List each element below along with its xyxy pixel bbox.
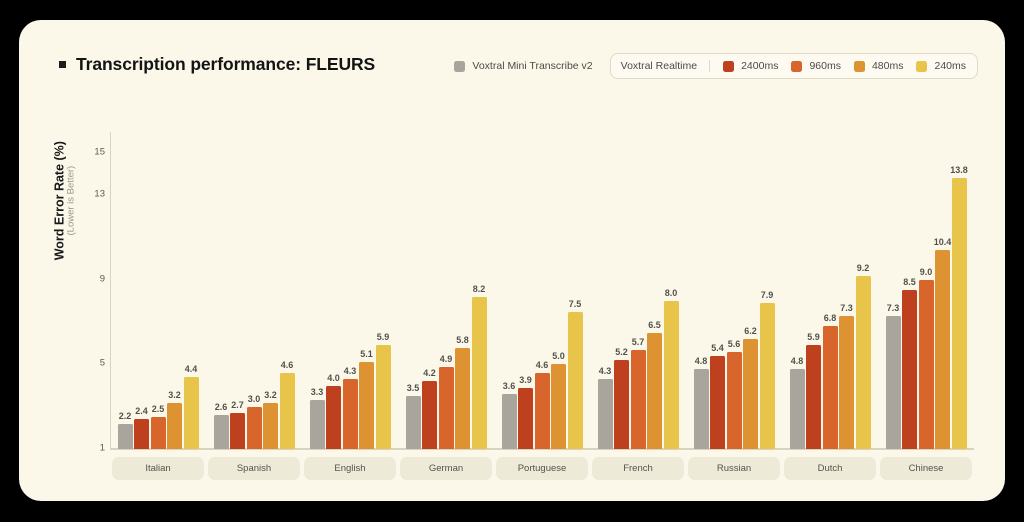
bar-slot: 6.8 <box>823 112 838 449</box>
bar-value-label: 9.2 <box>857 263 870 273</box>
bar-german-240ms[interactable] <box>472 297 487 449</box>
bar-group-italian: 2.22.42.53.24.4 <box>110 112 206 449</box>
bar-english-2400ms[interactable] <box>326 386 341 449</box>
bar-slot: 5.4 <box>710 112 725 449</box>
bar-slot: 2.5 <box>151 112 166 449</box>
bar-slot: 4.2 <box>422 112 437 449</box>
bar-dutch-2400ms[interactable] <box>806 345 821 449</box>
bar-value-label: 2.2 <box>119 411 132 421</box>
bar-slot: 5.1 <box>359 112 374 449</box>
x-axis-label-portuguese[interactable]: Portuguese <box>496 457 588 480</box>
bar-slot: 3.2 <box>263 112 278 449</box>
bar-slot: 5.2 <box>614 112 629 449</box>
bar-value-label: 7.5 <box>569 299 582 309</box>
bar-russian-480ms[interactable] <box>743 339 758 449</box>
bar-portuguese-voxtral-mini-transcribe-v2[interactable] <box>502 394 517 449</box>
bar-slot: 4.3 <box>598 112 613 449</box>
bar-value-label: 4.3 <box>344 366 357 376</box>
bar-french-240ms[interactable] <box>664 301 679 449</box>
bar-chinese-960ms[interactable] <box>919 280 934 449</box>
x-label-cell: Russian <box>686 457 782 480</box>
bar-slot: 8.2 <box>472 112 487 449</box>
bar-russian-voxtral-mini-transcribe-v2[interactable] <box>694 369 709 449</box>
bar-russian-960ms[interactable] <box>727 352 742 449</box>
bar-italian-voxtral-mini-transcribe-v2[interactable] <box>118 424 133 449</box>
bar-slot: 7.3 <box>839 112 854 449</box>
bar-value-label: 7.3 <box>840 303 853 313</box>
bar-groups: 2.22.42.53.24.42.62.73.03.24.63.34.04.35… <box>110 112 974 449</box>
bar-dutch-480ms[interactable] <box>839 316 854 449</box>
bar-value-label: 4.0 <box>327 373 340 383</box>
bar-dutch-voxtral-mini-transcribe-v2[interactable] <box>790 369 805 449</box>
bar-value-label: 4.3 <box>599 366 612 376</box>
bar-slot: 4.8 <box>790 112 805 449</box>
bar-value-label: 5.6 <box>728 339 741 349</box>
bar-slot: 5.6 <box>727 112 742 449</box>
y-axis-tick-15: 15 <box>79 147 105 158</box>
bar-value-label: 4.2 <box>423 368 436 378</box>
bar-slot: 3.2 <box>167 112 182 449</box>
bar-slot: 8.5 <box>902 112 917 449</box>
bar-slot: 6.5 <box>647 112 662 449</box>
bar-slot: 5.9 <box>376 112 391 449</box>
bar-value-label: 3.6 <box>503 381 516 391</box>
bar-spanish-960ms[interactable] <box>247 407 262 449</box>
bar-german-voxtral-mini-transcribe-v2[interactable] <box>406 396 421 449</box>
bar-value-label: 5.2 <box>615 347 628 357</box>
bar-slot: 4.8 <box>694 112 709 449</box>
bar-portuguese-960ms[interactable] <box>535 373 550 449</box>
bars: 3.54.24.95.88.2 <box>398 112 494 449</box>
bar-value-label: 5.0 <box>552 351 565 361</box>
bar-chinese-240ms[interactable] <box>952 178 967 449</box>
bar-slot: 3.3 <box>310 112 325 449</box>
bar-portuguese-480ms[interactable] <box>551 364 566 449</box>
bar-slot: 4.3 <box>343 112 358 449</box>
bar-value-label: 6.5 <box>648 320 661 330</box>
bar-french-960ms[interactable] <box>631 350 646 449</box>
bar-italian-960ms[interactable] <box>151 417 166 449</box>
x-axis-label-english[interactable]: English <box>304 457 396 480</box>
x-label-cell: Spanish <box>206 457 302 480</box>
bar-slot: 5.7 <box>631 112 646 449</box>
bars: 4.35.25.76.58.0 <box>590 112 686 449</box>
x-label-cell: English <box>302 457 398 480</box>
bar-slot: 2.2 <box>118 112 133 449</box>
bars: 7.38.59.010.413.8 <box>878 112 974 449</box>
bar-slot: 7.3 <box>886 112 901 449</box>
x-label-cell: Dutch <box>782 457 878 480</box>
bar-value-label: 3.9 <box>519 375 532 385</box>
bar-value-label: 4.6 <box>281 360 294 370</box>
bar-slot: 9.2 <box>856 112 871 449</box>
bar-value-label: 5.1 <box>360 349 373 359</box>
bar-value-label: 5.4 <box>711 343 724 353</box>
bar-value-label: 10.4 <box>934 237 952 247</box>
bar-value-label: 13.8 <box>950 165 968 175</box>
bar-chinese-voxtral-mini-transcribe-v2[interactable] <box>886 316 901 449</box>
bar-value-label: 4.8 <box>791 356 804 366</box>
bar-english-960ms[interactable] <box>343 379 358 449</box>
y-axis-tick-5: 5 <box>79 358 105 369</box>
bar-slot: 13.8 <box>952 112 967 449</box>
bar-slot: 4.6 <box>535 112 550 449</box>
bar-value-label: 4.8 <box>695 356 708 366</box>
bar-slot: 10.4 <box>935 112 950 449</box>
bar-slot: 3.9 <box>518 112 533 449</box>
bar-slot: 4.4 <box>184 112 199 449</box>
y-axis-title-sub: (Lower is Better) <box>67 116 78 286</box>
bar-dutch-960ms[interactable] <box>823 326 838 449</box>
bar-value-label: 5.9 <box>377 332 390 342</box>
bar-value-label: 7.9 <box>761 290 774 300</box>
bar-value-label: 5.7 <box>632 337 645 347</box>
bar-slot: 8.0 <box>664 112 679 449</box>
bar-value-label: 9.0 <box>920 267 933 277</box>
bar-slot: 4.9 <box>439 112 454 449</box>
bar-spanish-voxtral-mini-transcribe-v2[interactable] <box>214 415 229 449</box>
bar-slot: 4.0 <box>326 112 341 449</box>
bar-group-french: 4.35.25.76.58.0 <box>590 112 686 449</box>
bar-value-label: 3.5 <box>407 383 420 393</box>
bar-value-label: 5.9 <box>807 332 820 342</box>
x-axis-label-chinese[interactable]: Chinese <box>880 457 972 480</box>
bar-slot: 7.9 <box>760 112 775 449</box>
x-axis-label-german[interactable]: German <box>400 457 492 480</box>
bar-slot: 7.5 <box>568 112 583 449</box>
bar-value-label: 6.8 <box>824 313 837 323</box>
x-label-cell: Portuguese <box>494 457 590 480</box>
bar-slot: 2.7 <box>230 112 245 449</box>
bar-value-label: 3.0 <box>248 394 261 404</box>
bars: 3.63.94.65.07.5 <box>494 112 590 449</box>
bar-portuguese-2400ms[interactable] <box>518 388 533 449</box>
bar-italian-240ms[interactable] <box>184 377 199 449</box>
bar-french-2400ms[interactable] <box>614 360 629 449</box>
bar-group-dutch: 4.85.96.87.39.2 <box>782 112 878 449</box>
x-axis-label-italian[interactable]: Italian <box>112 457 204 480</box>
bar-group-german: 3.54.24.95.88.2 <box>398 112 494 449</box>
bar-value-label: 4.9 <box>440 354 453 364</box>
bar-value-label: 2.7 <box>231 400 244 410</box>
bar-slot: 5.0 <box>551 112 566 449</box>
plot-area: Word Error Rate (%) (Lower is Better) 15… <box>19 20 1005 501</box>
bar-value-label: 4.6 <box>536 360 549 370</box>
bar-slot: 5.9 <box>806 112 821 449</box>
bar-value-label: 4.4 <box>185 364 198 374</box>
bar-value-label: 5.8 <box>456 335 469 345</box>
bar-spanish-240ms[interactable] <box>280 373 295 449</box>
bar-russian-2400ms[interactable] <box>710 356 725 449</box>
bar-dutch-240ms[interactable] <box>856 276 871 449</box>
bar-value-label: 8.0 <box>665 288 678 298</box>
y-axis-title: Word Error Rate (%) (Lower is Better) <box>52 116 77 286</box>
bars: 4.85.96.87.39.2 <box>782 112 878 449</box>
chart-panel: Transcription performance: FLEURS Voxtra… <box>19 20 1005 501</box>
bar-english-240ms[interactable] <box>376 345 391 449</box>
bar-group-portuguese: 3.63.94.65.07.5 <box>494 112 590 449</box>
bar-portuguese-240ms[interactable] <box>568 312 583 449</box>
bar-slot: 3.5 <box>406 112 421 449</box>
bar-italian-2400ms[interactable] <box>134 419 149 449</box>
y-axis-tick-9: 9 <box>79 273 105 284</box>
bars: 2.62.73.03.24.6 <box>206 112 302 449</box>
bar-slot: 9.0 <box>919 112 934 449</box>
bar-german-480ms[interactable] <box>455 348 470 449</box>
y-axis-tick-13: 13 <box>79 189 105 200</box>
bar-value-label: 2.6 <box>215 402 228 412</box>
bar-chinese-480ms[interactable] <box>935 250 950 449</box>
bar-slot: 3.0 <box>247 112 262 449</box>
x-axis-labels: ItalianSpanishEnglishGermanPortugueseFre… <box>110 457 974 480</box>
x-label-cell: German <box>398 457 494 480</box>
y-axis-ticks: 1591315 <box>79 20 105 501</box>
bar-slot: 2.6 <box>214 112 229 449</box>
bar-spanish-2400ms[interactable] <box>230 413 245 449</box>
bars: 2.22.42.53.24.4 <box>110 112 206 449</box>
bar-russian-240ms[interactable] <box>760 303 775 449</box>
bar-group-english: 3.34.04.35.15.9 <box>302 112 398 449</box>
y-axis-tick-1: 1 <box>79 443 105 454</box>
bar-slot: 6.2 <box>743 112 758 449</box>
bar-slot: 4.6 <box>280 112 295 449</box>
x-axis-label-french[interactable]: French <box>592 457 684 480</box>
bar-value-label: 8.2 <box>473 284 486 294</box>
bar-value-label: 8.5 <box>903 277 916 287</box>
bar-french-voxtral-mini-transcribe-v2[interactable] <box>598 379 613 449</box>
bar-group-chinese: 7.38.59.010.413.8 <box>878 112 974 449</box>
bar-value-label: 7.3 <box>887 303 900 313</box>
bar-english-480ms[interactable] <box>359 362 374 449</box>
x-label-cell: Italian <box>110 457 206 480</box>
bar-value-label: 3.3 <box>311 387 324 397</box>
bar-value-label: 6.2 <box>744 326 757 336</box>
bars: 3.34.04.35.15.9 <box>302 112 398 449</box>
bar-spanish-480ms[interactable] <box>263 403 278 450</box>
y-axis-title-main: Word Error Rate (%) <box>52 116 66 286</box>
x-axis-label-spanish[interactable]: Spanish <box>208 457 300 480</box>
x-axis-label-russian[interactable]: Russian <box>688 457 780 480</box>
x-label-cell: Chinese <box>878 457 974 480</box>
bar-value-label: 3.2 <box>168 390 181 400</box>
screenshot-root: Transcription performance: FLEURS Voxtra… <box>0 0 1024 522</box>
bar-slot: 3.6 <box>502 112 517 449</box>
bar-german-960ms[interactable] <box>439 367 454 449</box>
bars: 4.85.45.66.27.9 <box>686 112 782 449</box>
bar-german-2400ms[interactable] <box>422 381 437 449</box>
bar-group-russian: 4.85.45.66.27.9 <box>686 112 782 449</box>
bar-slot: 2.4 <box>134 112 149 449</box>
bar-italian-480ms[interactable] <box>167 403 182 450</box>
bar-value-label: 3.2 <box>264 390 277 400</box>
x-axis-label-dutch[interactable]: Dutch <box>784 457 876 480</box>
bar-english-voxtral-mini-transcribe-v2[interactable] <box>310 400 325 449</box>
bar-french-480ms[interactable] <box>647 333 662 449</box>
bar-value-label: 2.4 <box>135 406 148 416</box>
bar-chinese-2400ms[interactable] <box>902 290 917 449</box>
bar-group-spanish: 2.62.73.03.24.6 <box>206 112 302 449</box>
x-label-cell: French <box>590 457 686 480</box>
bar-slot: 5.8 <box>455 112 470 449</box>
bar-value-label: 2.5 <box>152 404 165 414</box>
